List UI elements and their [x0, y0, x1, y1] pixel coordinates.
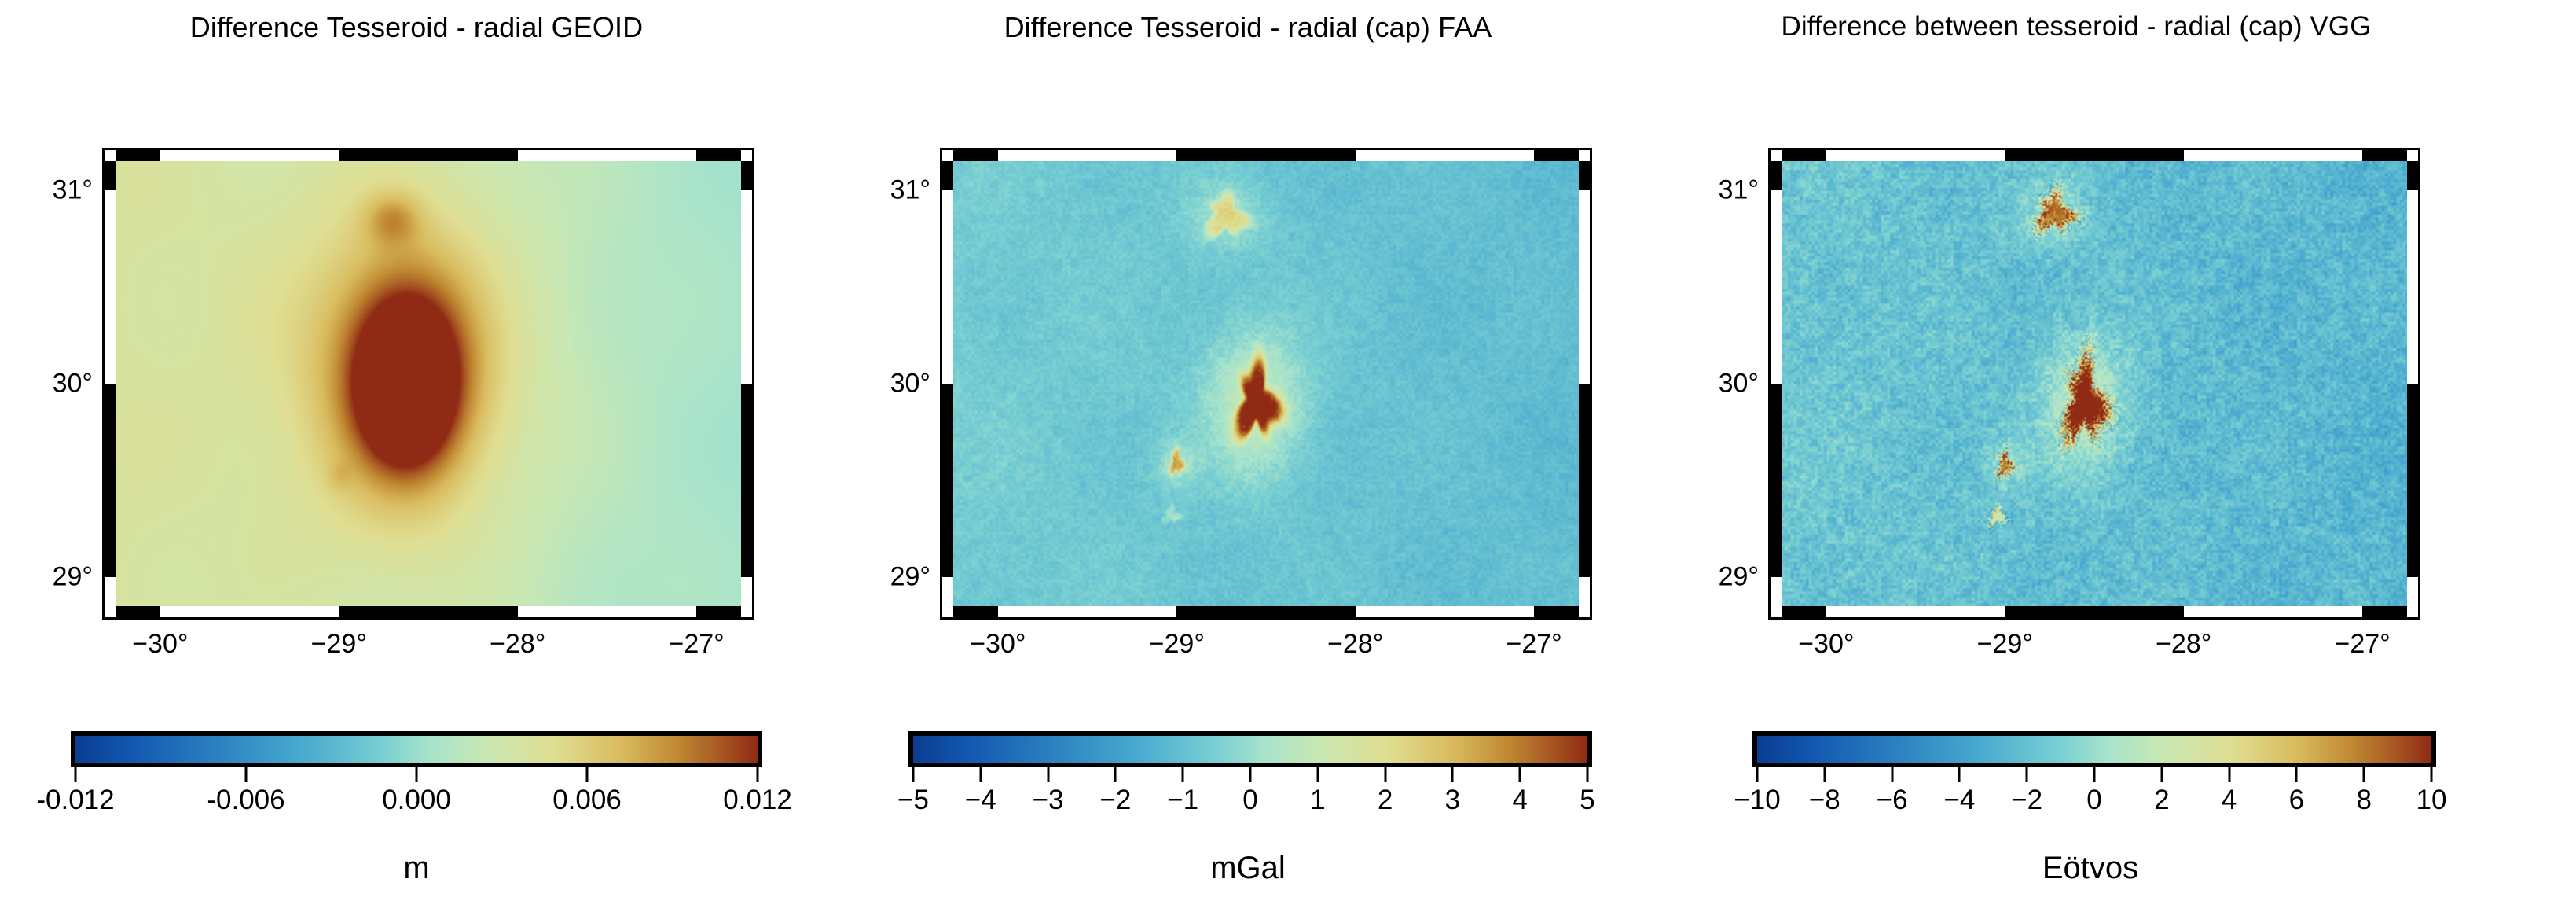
- frame-corner: [1579, 606, 1590, 617]
- x-tick-label: −29°: [311, 629, 367, 660]
- colorbar-tick-mark: [1958, 767, 1961, 782]
- frame-band-segment: [1579, 190, 1590, 384]
- colorbar-tick-label: 4: [1512, 785, 1527, 816]
- colorbar-tick-mark: [1384, 767, 1386, 782]
- panel-title: Difference Tesseroid - radial (cap) FAA: [839, 11, 1657, 44]
- x-tick-label: −27°: [669, 629, 725, 660]
- frame-band-segment: [2362, 606, 2407, 617]
- frame-band-segment: [1356, 150, 1534, 161]
- frame-band-segment: [339, 606, 517, 617]
- frame-band-segment: [998, 150, 1176, 161]
- colorbar-tick-mark: [586, 767, 589, 782]
- colorbar-box: [71, 731, 762, 767]
- frame-corner: [741, 606, 752, 617]
- frame-band-segment: [942, 161, 953, 190]
- colorbar-tick-mark: [1047, 767, 1049, 782]
- colorbar-tick-mark: [1182, 767, 1184, 782]
- colorbar-tick-label: −8: [1809, 785, 1840, 816]
- frame-band-segment: [741, 190, 752, 384]
- colorbar-tick-label: −10: [1734, 785, 1780, 816]
- frame-band-segment: [1176, 606, 1355, 617]
- frame-corner: [741, 150, 752, 161]
- x-tick-label: −29°: [1149, 629, 1205, 660]
- frame-band-segment: [696, 150, 741, 161]
- frame-band-segment: [942, 190, 953, 384]
- y-tick-label: 30°: [844, 369, 930, 399]
- colorbar-tick-mark: [979, 767, 982, 782]
- y-tick-label: 29°: [6, 562, 93, 593]
- colorbar-tick-mark: [2431, 767, 2433, 782]
- frame-band-segment: [1176, 150, 1355, 161]
- x-tick-label: −29°: [1977, 629, 2033, 660]
- colorbar-tick-label: −1: [1167, 785, 1198, 816]
- colorbar-tick-mark: [2363, 767, 2365, 782]
- y-tick-label: 31°: [844, 175, 930, 205]
- x-tick-label: −28°: [1327, 629, 1383, 660]
- colorbar-gradient: [913, 736, 1587, 763]
- x-tick-label: −30°: [970, 629, 1026, 660]
- frame-corner: [942, 150, 953, 161]
- colorbar-tick-label: 0: [1242, 785, 1257, 816]
- frame-band-segment: [105, 384, 116, 577]
- colorbar-ticks: −10−8−6−4−20246810: [1666, 767, 2483, 783]
- y-tick-label: 29°: [1672, 562, 1759, 593]
- colorbar-tick-mark: [416, 767, 418, 782]
- colorbar-tick-label: 3: [1445, 785, 1460, 816]
- colorbar-tick-mark: [1316, 767, 1319, 782]
- colorbar-tick-label: 2: [2154, 785, 2169, 816]
- map-faa[interactable]: [940, 148, 1592, 620]
- frame-band-segment: [1579, 384, 1590, 577]
- colorbar-tick-mark: [757, 767, 759, 782]
- colorbar-tick-label: −4: [1943, 785, 1975, 816]
- colorbar-tick-mark: [1587, 767, 1589, 782]
- colorbar-tick-label: 5: [1580, 785, 1594, 816]
- panel-title: Difference between tesseroid - radial (c…: [1660, 11, 2493, 42]
- frame-band-segment: [116, 150, 160, 161]
- colorbar-ticks: -0.012-0.0060.0000.0060.012: [8, 767, 825, 783]
- frame-band-segment: [998, 606, 1176, 617]
- frame-band-segment: [518, 606, 696, 617]
- frame-band-segment: [1771, 577, 1782, 606]
- frame-band-segment: [741, 384, 752, 577]
- colorbar-tick-mark: [1249, 767, 1252, 782]
- colorbar-tick-label: 4: [2222, 785, 2237, 816]
- map-plot-area: [1782, 161, 2407, 606]
- frame-corner: [2407, 150, 2418, 161]
- frame-band-segment: [105, 190, 116, 384]
- map-geoid[interactable]: [102, 148, 754, 620]
- colorbar-tick-label: -0.012: [36, 785, 114, 816]
- frame-band-segment: [1782, 150, 1826, 161]
- colorbar-tick-label: 0: [2086, 785, 2101, 816]
- colorbar-tick-mark: [1891, 767, 1893, 782]
- colorbar-gradient: [75, 736, 758, 763]
- heatmap-canvas: [116, 161, 741, 606]
- frame-band-segment: [696, 606, 741, 617]
- frame-band-segment: [518, 150, 696, 161]
- x-tick-label: −28°: [2156, 629, 2211, 660]
- x-tick-label: −27°: [2335, 629, 2391, 660]
- frame-band-segment: [2407, 384, 2418, 577]
- frame-band-segment: [2184, 150, 2362, 161]
- frame-band-segment: [160, 606, 339, 617]
- frame-band-segment: [1826, 606, 2005, 617]
- frame-band-segment: [105, 577, 116, 606]
- x-tick-label: −30°: [132, 629, 188, 660]
- colorbar-tick-label: −2: [1099, 785, 1131, 816]
- colorbar-tick-label: 1: [1310, 785, 1325, 816]
- frame-band-segment: [116, 606, 160, 617]
- frame-band-segment: [105, 161, 116, 190]
- colorbar-unit-label: m: [8, 851, 825, 886]
- frame-corner: [1771, 606, 1782, 617]
- frame-corner: [105, 606, 116, 617]
- colorbar-tick-mark: [2026, 767, 2028, 782]
- heatmap-canvas: [953, 161, 1579, 606]
- panel-faa: Difference Tesseroid - radial (cap) FAA …: [839, 0, 1657, 923]
- panel-vgg: Difference between tesseroid - radial (c…: [1666, 0, 2483, 923]
- frame-band-segment: [2005, 606, 2183, 617]
- colorbar-tick-label: 0.000: [382, 785, 451, 816]
- frame-band-segment: [1771, 190, 1782, 384]
- colorbar-tick-label: 0.012: [723, 785, 792, 816]
- frame-band-segment: [1534, 606, 1579, 617]
- y-tick-label: 30°: [1672, 369, 1759, 399]
- x-tick-label: −28°: [490, 629, 545, 660]
- frame-band-segment: [2005, 150, 2183, 161]
- frame-band-segment: [953, 606, 998, 617]
- y-tick-label: 31°: [6, 175, 93, 205]
- colorbar-tick-label: −2: [2011, 785, 2042, 816]
- heatmap-canvas: [1782, 161, 2407, 606]
- colorbar-tick-label: −4: [965, 785, 996, 816]
- colorbar-tick-mark: [245, 767, 248, 782]
- frame-band-segment: [2407, 190, 2418, 384]
- frame-band-segment: [2184, 606, 2362, 617]
- colorbar-tick-mark: [1823, 767, 1826, 782]
- colorbar-box: [908, 731, 1592, 767]
- colorbar-box: [1752, 731, 2436, 767]
- y-tick-label: 31°: [1672, 175, 1759, 205]
- frame-band-segment: [942, 384, 953, 577]
- colorbar-tick-label: 10: [2416, 785, 2447, 816]
- colorbar-tick-mark: [2295, 767, 2298, 782]
- colorbar-tick-label: −6: [1877, 785, 1908, 816]
- colorbar-tick-mark: [2093, 767, 2096, 782]
- frame-band-segment: [2407, 161, 2418, 190]
- frame-band-segment: [339, 150, 517, 161]
- frame-corner: [105, 150, 116, 161]
- frame-band-segment: [741, 161, 752, 190]
- frame-band-segment: [741, 577, 752, 606]
- panel-geoid: Difference Tesseroid - radial GEOID −30°…: [8, 0, 825, 923]
- colorbar-gradient: [1757, 736, 2431, 763]
- colorbar-tick-mark: [2228, 767, 2230, 782]
- frame-band-segment: [942, 577, 953, 606]
- colorbar-ticks: −5−4−3−2−1012345: [839, 767, 1657, 783]
- colorbar-tick-mark: [1519, 767, 1521, 782]
- map-plot-area: [116, 161, 741, 606]
- frame-band-segment: [1356, 606, 1534, 617]
- colorbar-tick-mark: [1114, 767, 1117, 782]
- figure-root: Difference Tesseroid - radial GEOID −30°…: [0, 0, 2576, 923]
- frame-band-segment: [1579, 161, 1590, 190]
- frame-band-segment: [1782, 606, 1826, 617]
- x-tick-label: −30°: [1798, 629, 1854, 660]
- colorbar-unit-label: Eötvos: [1682, 851, 2499, 886]
- x-tick-label: −27°: [1506, 629, 1562, 660]
- y-tick-label: 29°: [844, 562, 930, 593]
- frame-corner: [2407, 606, 2418, 617]
- colorbar-tick-label: 2: [1378, 785, 1393, 816]
- y-tick-label: 30°: [6, 369, 93, 399]
- colorbar-tick-mark: [912, 767, 915, 782]
- colorbar-unit-label: mGal: [839, 851, 1657, 886]
- colorbar-tick-label: −3: [1033, 785, 1064, 816]
- map-plot-area: [953, 161, 1579, 606]
- colorbar-tick-mark: [75, 767, 77, 782]
- frame-corner: [1579, 150, 1590, 161]
- frame-band-segment: [2407, 577, 2418, 606]
- map-vgg[interactable]: [1768, 148, 2420, 620]
- frame-band-segment: [2362, 150, 2407, 161]
- colorbar-tick-label: 8: [2356, 785, 2371, 816]
- colorbar-tick-mark: [1756, 767, 1759, 782]
- frame-band-segment: [1534, 150, 1579, 161]
- frame-band-segment: [1579, 577, 1590, 606]
- frame-band-segment: [1771, 384, 1782, 577]
- frame-band-segment: [160, 150, 339, 161]
- frame-corner: [942, 606, 953, 617]
- colorbar-tick-mark: [1451, 767, 1454, 782]
- frame-corner: [1771, 150, 1782, 161]
- colorbar-tick-label: −5: [897, 785, 929, 816]
- colorbar-tick-label: 0.006: [552, 785, 622, 816]
- frame-band-segment: [953, 150, 998, 161]
- colorbar-tick-mark: [2160, 767, 2163, 782]
- colorbar-tick-label: 6: [2289, 785, 2304, 816]
- panel-title: Difference Tesseroid - radial GEOID: [8, 11, 825, 44]
- frame-band-segment: [1771, 161, 1782, 190]
- colorbar-tick-label: -0.006: [207, 785, 284, 816]
- frame-band-segment: [1826, 150, 2005, 161]
